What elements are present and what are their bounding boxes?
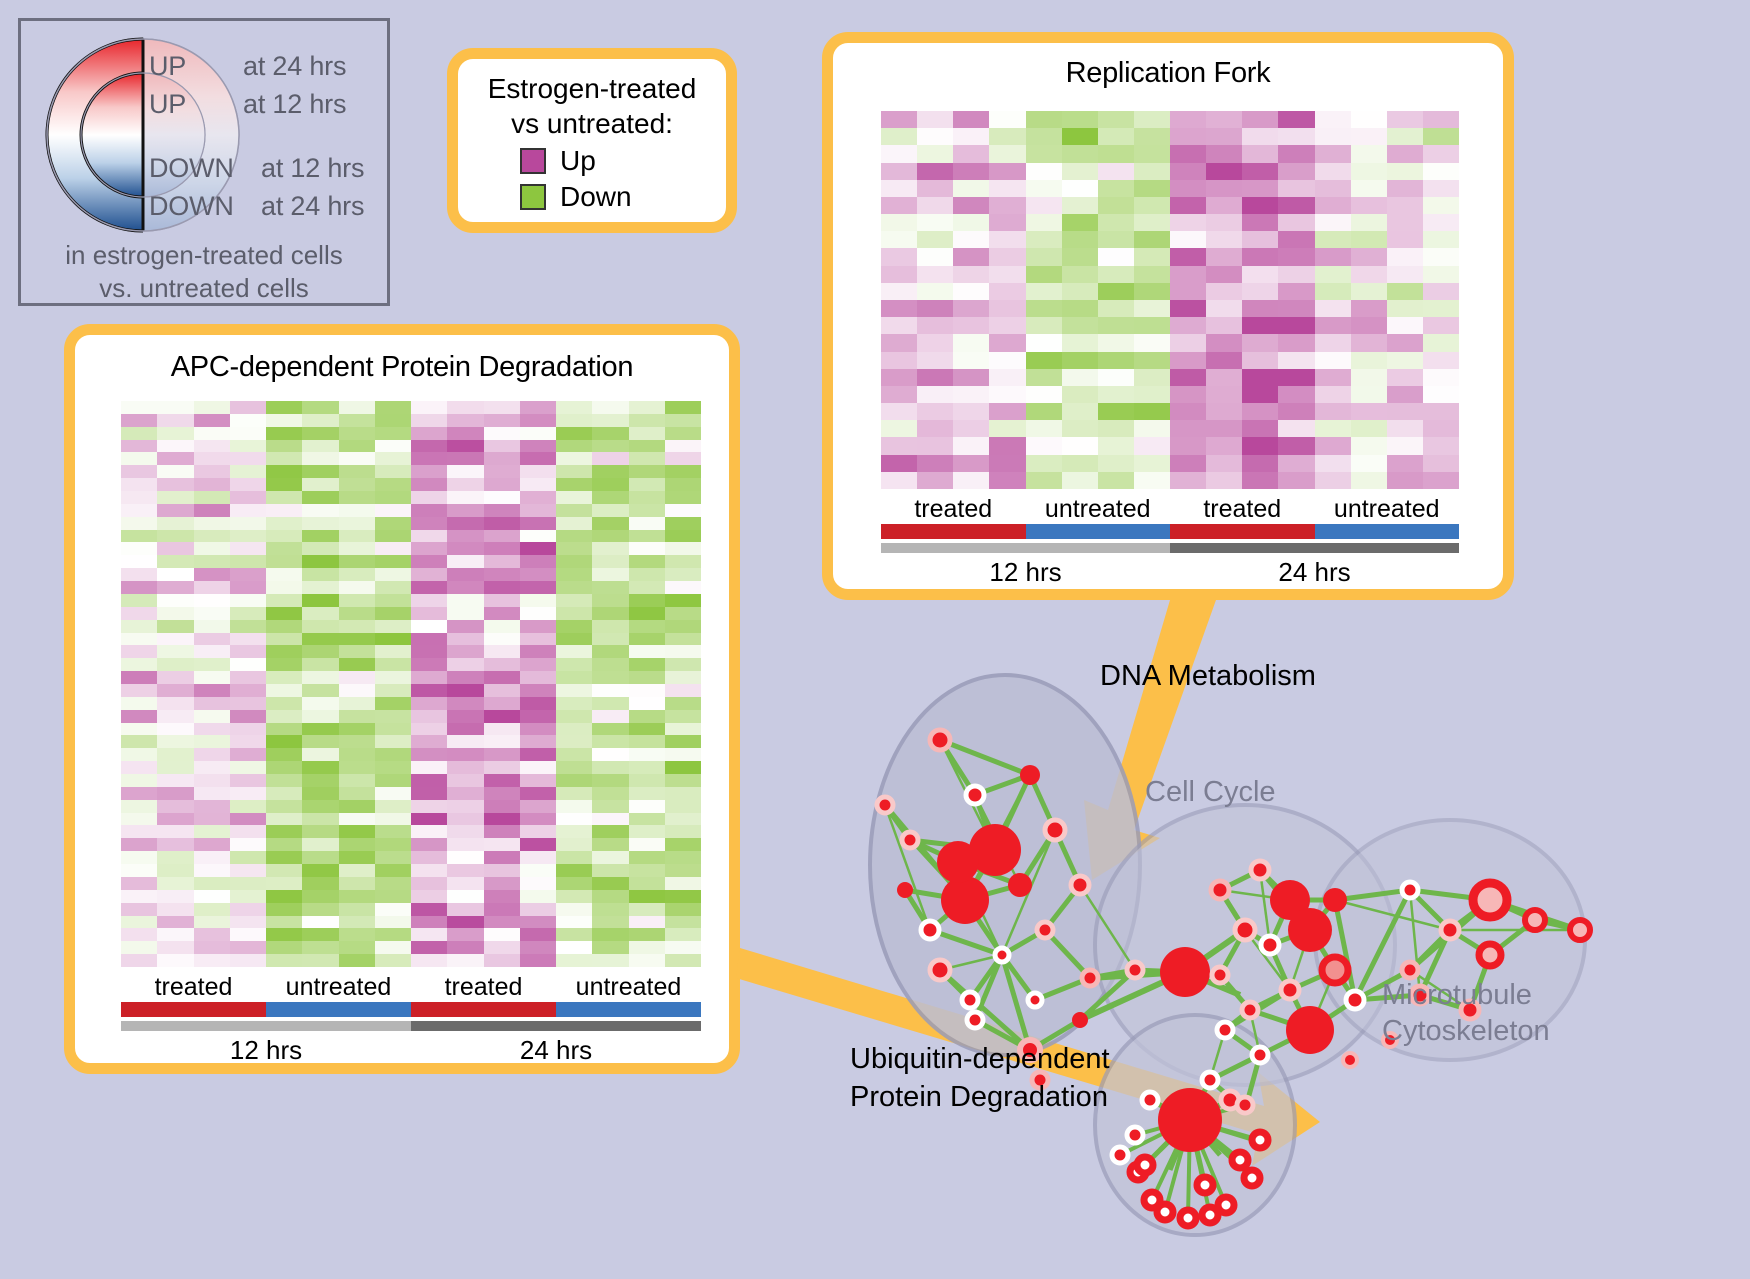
- heatmap-cell: [157, 568, 193, 581]
- heatmap-cell: [1387, 403, 1423, 420]
- time-label: 24 hrs: [411, 1035, 701, 1066]
- heatmap-cell: [230, 684, 266, 697]
- heatmap-cell: [230, 877, 266, 890]
- heatmap-cell: [520, 838, 556, 851]
- heatmap-cell: [339, 851, 375, 864]
- heatmap-cell: [665, 555, 701, 568]
- heatmap-cell: [447, 517, 483, 530]
- heatmap-cell: [1098, 231, 1134, 248]
- heatmap-cell: [1423, 386, 1459, 403]
- heatmap-cell: [194, 941, 230, 954]
- heatmap-cell: [194, 825, 230, 838]
- heatmap-cell: [375, 761, 411, 774]
- heatmap-cell: [1242, 266, 1278, 283]
- heatmap-cell: [194, 607, 230, 620]
- heatmap-cell: [556, 877, 592, 890]
- heatmap-cell: [629, 851, 665, 864]
- heatmap-cell: [989, 403, 1025, 420]
- heatmap-cell: [520, 697, 556, 710]
- heatmap-cell: [953, 403, 989, 420]
- heatmap-cell: [194, 671, 230, 684]
- heatmap-cell: [629, 491, 665, 504]
- heatmap-cell: [302, 452, 338, 465]
- heatmap-cell: [556, 825, 592, 838]
- heatmap-cell: [1423, 369, 1459, 386]
- heatmap-cell: [1351, 369, 1387, 386]
- heatmap-cell: [1134, 386, 1170, 403]
- heatmap-cell: [989, 352, 1025, 369]
- heatmap-cell: [121, 658, 157, 671]
- heatmap-cell: [953, 231, 989, 248]
- heatmap-cell: [121, 774, 157, 787]
- heatmap-cell: [266, 916, 302, 929]
- heatmap-cell: [1026, 248, 1062, 265]
- wheel-footer-line1: in estrogen-treated cells: [21, 239, 387, 272]
- heatmap-cell: [1098, 300, 1134, 317]
- heatmap-cell: [375, 697, 411, 710]
- heatmap-cell: [447, 851, 483, 864]
- heatmap-cell: [953, 266, 989, 283]
- heatmap-cell: [1206, 334, 1242, 351]
- heatmap-cell: [194, 620, 230, 633]
- condition-label: untreated: [1315, 495, 1460, 524]
- heatmap-cell: [1278, 145, 1314, 162]
- heatmap-cell: [629, 581, 665, 594]
- heatmap-cell: [484, 607, 520, 620]
- heatmap-cell: [1098, 145, 1134, 162]
- heatmap-cell: [556, 774, 592, 787]
- heatmap-cell: [302, 568, 338, 581]
- heatmap-cell: [1387, 180, 1423, 197]
- heatmap-cell: [230, 620, 266, 633]
- heatmap-cell: [1098, 248, 1134, 265]
- heatmap-cell: [1134, 437, 1170, 454]
- heatmap-cell: [1206, 300, 1242, 317]
- down-colour-swatch: [520, 184, 546, 210]
- heatmap-cell: [447, 427, 483, 440]
- heatmap-cell: [917, 369, 953, 386]
- heatmap-cell: [375, 671, 411, 684]
- heatmap-cell: [121, 581, 157, 594]
- heatmap-cell: [665, 813, 701, 826]
- heatmap-cell: [1170, 369, 1206, 386]
- heatmap-cell: [484, 414, 520, 427]
- network-diagram: DNA Metabolism Cell Cycle Microtubule Cy…: [790, 600, 1750, 1279]
- heatmap-cell: [1315, 197, 1351, 214]
- heatmap-cell: [157, 851, 193, 864]
- heatmap-cell: [592, 774, 628, 787]
- heatmap-cell: [592, 723, 628, 736]
- heatmap-cell: [302, 465, 338, 478]
- heatmap-cell: [592, 851, 628, 864]
- heatmap-cell: [339, 555, 375, 568]
- heatmap-cell: [230, 903, 266, 916]
- heatmap-cell: [629, 877, 665, 890]
- heatmap-cell: [881, 403, 917, 420]
- heatmap-cell: [121, 465, 157, 478]
- heatmap-cell: [230, 594, 266, 607]
- heatmap-cell: [1206, 145, 1242, 162]
- heatmap-cell: [629, 414, 665, 427]
- key-label-down: Down: [560, 181, 632, 213]
- heatmap-cell: [157, 401, 193, 414]
- heatmap-cell: [339, 401, 375, 414]
- heatmap-cell: [1098, 128, 1134, 145]
- heatmap-cell: [1134, 163, 1170, 180]
- heatmap-cell: [1098, 386, 1134, 403]
- heatmap-cell: [447, 594, 483, 607]
- heatmap-cell: [1170, 437, 1206, 454]
- heatmap-cell: [266, 697, 302, 710]
- heatmap-cell: [484, 890, 520, 903]
- heatmap-cell: [230, 440, 266, 453]
- heatmap-cell: [556, 697, 592, 710]
- heatmap-cell: [266, 735, 302, 748]
- heatmap-cell: [302, 491, 338, 504]
- heatmap-cell: [157, 838, 193, 851]
- heatmap-cell: [917, 111, 953, 128]
- heatmap-cell: [194, 928, 230, 941]
- heatmap-cell: [1278, 248, 1314, 265]
- heatmap-cell: [665, 594, 701, 607]
- heatmap-cell: [266, 954, 302, 967]
- heatmap-cell: [266, 658, 302, 671]
- heatmap-cell: [230, 916, 266, 929]
- heatmap-cell: [1206, 214, 1242, 231]
- heatmap-cell: [230, 517, 266, 530]
- heatmap-cell: [592, 890, 628, 903]
- heatmap-cell: [520, 684, 556, 697]
- heatmap-cell: [592, 478, 628, 491]
- heatmap-cell: [1026, 180, 1062, 197]
- heatmap-cell: [339, 928, 375, 941]
- heatmap-cell: [121, 478, 157, 491]
- heatmap-cell: [1062, 231, 1098, 248]
- heatmap-cell: [339, 710, 375, 723]
- heatmap-cell: [266, 748, 302, 761]
- heatmap-cell: [266, 504, 302, 517]
- heatmap-cell: [1026, 266, 1062, 283]
- heatmap-cell: [881, 266, 917, 283]
- heatmap-cell: [121, 633, 157, 646]
- heatmap-cell: [1242, 300, 1278, 317]
- heatmap-cell: [629, 645, 665, 658]
- heatmap-cell: [411, 401, 447, 414]
- heatmap-cell: [1387, 128, 1423, 145]
- heatmap-cell: [375, 594, 411, 607]
- heatmap-cell: [157, 607, 193, 620]
- heatmap-cell: [1387, 369, 1423, 386]
- heatmap-cell: [1351, 352, 1387, 369]
- heatmap-cell: [375, 723, 411, 736]
- cluster-label-microtubule: Microtubule Cytoskeleton: [1382, 977, 1550, 1049]
- heatmap-cell: [665, 427, 701, 440]
- heatmap-cell: [592, 928, 628, 941]
- heatmap-cell: [592, 568, 628, 581]
- heatmap-cell: [157, 723, 193, 736]
- heatmap-cell: [1098, 352, 1134, 369]
- heatmap-cell: [121, 723, 157, 736]
- heatmap-cell: [1315, 420, 1351, 437]
- heatmap-cell: [1062, 300, 1098, 317]
- heatmap-cell: [520, 440, 556, 453]
- heatmap-cell: [592, 748, 628, 761]
- heatmap-cell: [1170, 180, 1206, 197]
- heatmap-cell: [230, 491, 266, 504]
- heatmap-cell: [592, 877, 628, 890]
- heatmap-cell: [917, 197, 953, 214]
- heatmap-cell: [302, 941, 338, 954]
- heatmap-cell: [520, 414, 556, 427]
- heatmap-cell: [1351, 334, 1387, 351]
- condition-bar-segment: [1315, 524, 1460, 539]
- heatmap-cell: [953, 472, 989, 489]
- heatmap-cell: [230, 941, 266, 954]
- heatmap-cell: [447, 761, 483, 774]
- heatmap-cell: [520, 607, 556, 620]
- heatmap-cell: [881, 231, 917, 248]
- heatmap-cell: [665, 877, 701, 890]
- heatmap-cell: [447, 607, 483, 620]
- heatmap-cell: [339, 825, 375, 838]
- heatmap-cell: [194, 465, 230, 478]
- heatmap-cell: [1206, 266, 1242, 283]
- heatmap-cell: [1315, 300, 1351, 317]
- heatmap-cell: [1134, 283, 1170, 300]
- heatmap-cell: [1387, 248, 1423, 265]
- heatmap-cell: [953, 386, 989, 403]
- heatmap-cell: [1242, 317, 1278, 334]
- heatmap-cell: [1351, 180, 1387, 197]
- heatmap-cell: [629, 761, 665, 774]
- heatmap-cell: [375, 452, 411, 465]
- heatmap-cell: [194, 838, 230, 851]
- heatmap-cell: [953, 180, 989, 197]
- heatmap-cell: [484, 697, 520, 710]
- heatmap-cell: [1315, 128, 1351, 145]
- heatmap-cell: [1387, 300, 1423, 317]
- heatmap-cell: [989, 334, 1025, 351]
- heatmap-cell: [556, 851, 592, 864]
- heatmap-cell: [157, 414, 193, 427]
- heatmap-cell: [484, 903, 520, 916]
- wheel-label-up-12: UP: [149, 89, 186, 120]
- heatmap-cell: [411, 581, 447, 594]
- heatmap-cell: [1278, 420, 1314, 437]
- heatmap-cell: [339, 620, 375, 633]
- heatmap-cell: [302, 555, 338, 568]
- heatmap-cell: [1423, 352, 1459, 369]
- heatmap-cell: [411, 748, 447, 761]
- heatmap-cell: [592, 401, 628, 414]
- heatmap-cell: [665, 761, 701, 774]
- heatmap-cell: [629, 710, 665, 723]
- heatmap-cell: [121, 941, 157, 954]
- heatmap-cell: [1062, 197, 1098, 214]
- heatmap-cell: [194, 658, 230, 671]
- heatmap-cell: [375, 504, 411, 517]
- heatmap-cell: [194, 916, 230, 929]
- heatmap-cell: [1026, 300, 1062, 317]
- heatmap-cell: [121, 504, 157, 517]
- heatmap-cell: [1206, 197, 1242, 214]
- heatmap-cell: [266, 478, 302, 491]
- heatmap-cell: [1062, 163, 1098, 180]
- heatmap-cell: [881, 386, 917, 403]
- heatmap-cell: [375, 530, 411, 543]
- heatmap-cell: [917, 317, 953, 334]
- heatmap-cell: [1170, 420, 1206, 437]
- heatmap-cell: [194, 723, 230, 736]
- heatmap-cell: [194, 645, 230, 658]
- heatmap-cell: [230, 890, 266, 903]
- heatmap-cell: [1098, 437, 1134, 454]
- heatmap-cell: [302, 401, 338, 414]
- heatmap-cell: [339, 723, 375, 736]
- heatmap-cell: [194, 568, 230, 581]
- heatmap-cell: [302, 838, 338, 851]
- heatmap-cell: [411, 671, 447, 684]
- heatmap-cell: [1278, 180, 1314, 197]
- heatmap-cell: [121, 761, 157, 774]
- heatmap-cell: [121, 491, 157, 504]
- condition-label: untreated: [266, 973, 411, 1002]
- wheel-suffix-down-12: at 12 hrs: [261, 153, 364, 184]
- heatmap-cell: [665, 491, 701, 504]
- key-heading-line1: Estrogen-treated: [458, 71, 726, 106]
- heatmap-cell: [520, 916, 556, 929]
- heatmap-cell: [989, 128, 1025, 145]
- heatmap-cell: [1206, 403, 1242, 420]
- condition-bar-segment: [1026, 524, 1171, 539]
- heatmap-cell: [1206, 472, 1242, 489]
- heatmap-cell: [629, 620, 665, 633]
- heatmap-cell: [953, 111, 989, 128]
- heatmap-cell: [302, 928, 338, 941]
- heatmap-cell: [339, 916, 375, 929]
- heatmap-cell: [629, 542, 665, 555]
- heatmap-cell: [375, 735, 411, 748]
- heatmap-cell: [1062, 128, 1098, 145]
- heatmap-cell: [411, 568, 447, 581]
- heatmap-cell: [1423, 163, 1459, 180]
- heatmap-cell: [1351, 128, 1387, 145]
- heatmap-cell: [1098, 197, 1134, 214]
- heatmap-cell: [592, 684, 628, 697]
- heatmap-cell: [447, 401, 483, 414]
- heatmap-cell: [266, 761, 302, 774]
- time-label: 24 hrs: [1170, 557, 1459, 588]
- heatmap-cell: [266, 555, 302, 568]
- heatmap-cell: [1170, 334, 1206, 351]
- heatmap-cell: [375, 633, 411, 646]
- heatmap-cell: [1315, 403, 1351, 420]
- heatmap-cell: [556, 723, 592, 736]
- heatmap-cell: [411, 594, 447, 607]
- heatmap-cell: [520, 877, 556, 890]
- heatmap-cell: [1242, 111, 1278, 128]
- heatmap-cell: [556, 838, 592, 851]
- heatmap-cell: [1315, 163, 1351, 180]
- heatmap-cell: [302, 684, 338, 697]
- heatmap-cell: [339, 941, 375, 954]
- heatmap-cell: [592, 697, 628, 710]
- heatmap-cell: [629, 941, 665, 954]
- heatmap-cell: [556, 684, 592, 697]
- heatmap-cell: [629, 517, 665, 530]
- heatmap-cell: [484, 530, 520, 543]
- heatmap-cell: [339, 838, 375, 851]
- heatmap-cell: [1134, 111, 1170, 128]
- heatmap-cell: [1351, 317, 1387, 334]
- heatmap-cell: [375, 825, 411, 838]
- heatmap-cell: [484, 671, 520, 684]
- heatmap-replication-fork: [881, 111, 1459, 489]
- heatmap-cell: [1062, 111, 1098, 128]
- heatmap-cell: [266, 633, 302, 646]
- heatmap-cell: [411, 735, 447, 748]
- heatmap-cell: [447, 877, 483, 890]
- heatmap-cell: [230, 838, 266, 851]
- heatmap-cell: [484, 633, 520, 646]
- heatmap-cell: [230, 748, 266, 761]
- time-bar-segment: [881, 543, 1170, 553]
- heatmap-cell: [1062, 266, 1098, 283]
- heatmap-cell: [520, 568, 556, 581]
- heatmap-cell: [157, 658, 193, 671]
- heatmap-cell: [411, 697, 447, 710]
- heatmap-cell: [1423, 231, 1459, 248]
- heatmap-cell: [1423, 214, 1459, 231]
- heatmap-cell: [484, 401, 520, 414]
- heatmap-cell: [411, 723, 447, 736]
- heatmap-cell: [1206, 248, 1242, 265]
- heatmap-cell: [989, 455, 1025, 472]
- heatmap-cell: [339, 645, 375, 658]
- heatmap-cell: [592, 671, 628, 684]
- heatmap-cell: [1206, 283, 1242, 300]
- heatmap-cell: [121, 813, 157, 826]
- heatmap-cell: [302, 877, 338, 890]
- heatmap-cell: [629, 658, 665, 671]
- heatmap-cell: [989, 300, 1025, 317]
- heatmap-cell: [375, 491, 411, 504]
- heatmap-cell: [917, 455, 953, 472]
- heatmap-cell: [592, 658, 628, 671]
- heatmap-cell: [1242, 248, 1278, 265]
- heatmap-cell: [484, 838, 520, 851]
- heatmap-cell: [230, 607, 266, 620]
- heatmap-cell: [629, 427, 665, 440]
- heatmap-cell: [1242, 369, 1278, 386]
- heatmap-cell: [592, 491, 628, 504]
- heatmap-cell: [1242, 231, 1278, 248]
- heatmap-cell: [447, 452, 483, 465]
- heatmap-cell: [629, 954, 665, 967]
- heatmap-cell: [339, 414, 375, 427]
- heatmap-cell: [447, 645, 483, 658]
- heatmap-cell: [230, 761, 266, 774]
- heatmap-cell: [1026, 197, 1062, 214]
- heatmap-cell: [1278, 128, 1314, 145]
- heatmap-cell: [520, 465, 556, 478]
- heatmap-cell: [447, 491, 483, 504]
- heatmap-cell: [230, 735, 266, 748]
- heatmap-cell: [375, 658, 411, 671]
- heatmap-cell: [881, 248, 917, 265]
- heatmap-cell: [194, 440, 230, 453]
- heatmap-cell: [556, 568, 592, 581]
